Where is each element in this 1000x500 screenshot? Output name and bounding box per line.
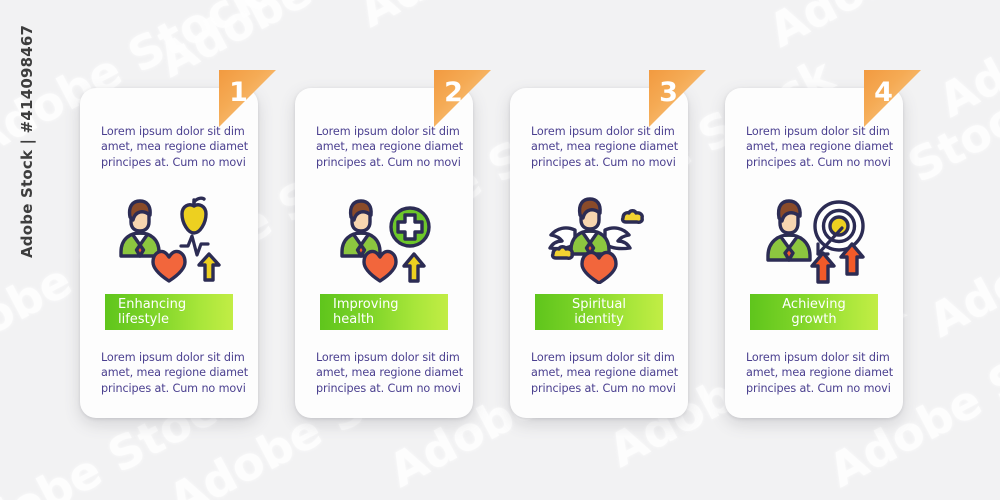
card-4-label-line2: growth: [791, 312, 836, 327]
angel-person-clouds-heart-icon: [510, 188, 688, 288]
infographic-card-2[interactable]: Lorem ipsum dolor sit dim amet, mea regi…: [295, 88, 473, 418]
infographic-cards-container: Lorem ipsum dolor sit dim amet, mea regi…: [0, 0, 1000, 500]
card-2-bottom-text: Lorem ipsum dolor sit dim amet, mea regi…: [316, 350, 466, 396]
card-4-label-line1: Achieving: [782, 297, 845, 312]
card-3-top-text: Lorem ipsum dolor sit dim amet, mea regi…: [531, 124, 681, 170]
card-1-label: Enhancing lifestyle: [105, 294, 233, 330]
card-4-step-number: 4: [869, 76, 897, 110]
card-3-label-line2: identity: [574, 312, 624, 327]
card-3-label-line1: Spiritual: [572, 297, 626, 312]
card-4-label: Achieving growth: [750, 294, 878, 330]
infographic-card-1[interactable]: Lorem ipsum dolor sit dim amet, mea regi…: [80, 88, 258, 418]
card-1-top-text: Lorem ipsum dolor sit dim amet, mea regi…: [101, 124, 251, 170]
card-1-step-number: 1: [224, 76, 252, 110]
card-4-bottom-text: Lorem ipsum dolor sit dim amet, mea regi…: [746, 350, 896, 396]
stock-id-label: Adobe Stock | #414098467: [18, 25, 36, 258]
card-4-inner: Lorem ipsum dolor sit dim amet, mea regi…: [725, 88, 903, 418]
card-3-inner: Lorem ipsum dolor sit dim amet, mea regi…: [510, 88, 688, 418]
person-medical-cross-heart-arrow-icon: [295, 188, 473, 288]
card-1-inner: Lorem ipsum dolor sit dim amet, mea regi…: [80, 88, 258, 418]
card-3-label: Spiritual identity: [535, 294, 663, 330]
card-2-inner: Lorem ipsum dolor sit dim amet, mea regi…: [295, 88, 473, 418]
card-1-label-line1: Enhancing: [118, 297, 186, 312]
person-apple-heartbeat-arrow-icon: [80, 188, 258, 288]
card-2-label-line1: Improving: [333, 297, 399, 312]
card-2-label-line2: health: [333, 312, 374, 327]
card-2-step-number: 2: [439, 76, 467, 110]
infographic-card-3[interactable]: Lorem ipsum dolor sit dim amet, mea regi…: [510, 88, 688, 418]
card-4-top-text: Lorem ipsum dolor sit dim amet, mea regi…: [746, 124, 896, 170]
infographic-card-4[interactable]: Lorem ipsum dolor sit dim amet, mea regi…: [725, 88, 903, 418]
card-3-bottom-text: Lorem ipsum dolor sit dim amet, mea regi…: [531, 350, 681, 396]
card-2-label: Improving health: [320, 294, 448, 330]
person-target-arrows-icon: [725, 188, 903, 288]
card-1-bottom-text: Lorem ipsum dolor sit dim amet, mea regi…: [101, 350, 251, 396]
card-1-label-line2: lifestyle: [118, 312, 169, 327]
card-2-top-text: Lorem ipsum dolor sit dim amet, mea regi…: [316, 124, 466, 170]
card-3-step-number: 3: [654, 76, 682, 110]
